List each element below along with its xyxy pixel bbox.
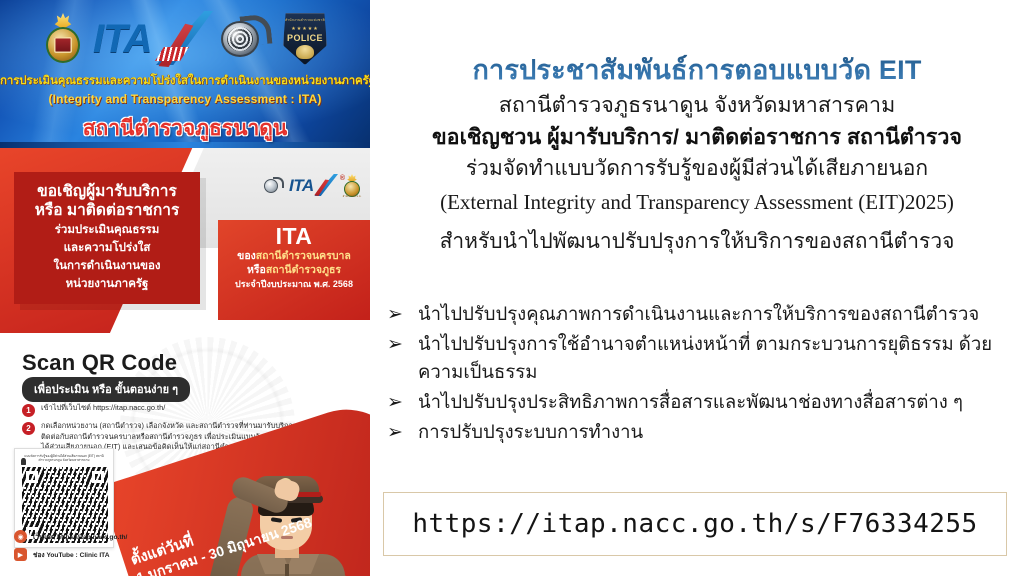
ita-panel-line-1-prefix: ของ bbox=[237, 250, 256, 262]
globe-icon: ◉ bbox=[14, 530, 27, 543]
slide-text-content: การประชาสัมพันธ์การตอบแบบวัด EIT สถานีตำ… bbox=[370, 0, 1024, 576]
mini-magnifier-icon bbox=[264, 177, 284, 195]
eit-english-line: (External Integrity and Transparency Ass… bbox=[370, 190, 1024, 215]
benefits-list: ➢ นำไปปรับปรุงคุณภาพการดำเนินงานและการให… bbox=[384, 300, 1014, 448]
bullet-arrow-icon: ➢ bbox=[384, 300, 406, 328]
qr-card-caption: แบบวัดการรับรู้ของผู้มีส่วนได้ส่วนเสียภา… bbox=[20, 454, 108, 463]
police-badge-icon: สำนักงานตำรวจแห่งชาติ ★★★★★ POLICE bbox=[283, 13, 327, 65]
ita-panel-line-1: ของสถานีตำรวจนครบาล bbox=[218, 249, 370, 263]
slide-canvas: ITA สำนักงานตำรวจแห่งชาติ ★★★★★ POLICE ก… bbox=[0, 0, 1024, 576]
list-item: ➢ นำไปปรับปรุงการใช้อำนาจตำแหน่งหน้าที่ … bbox=[384, 330, 1014, 386]
contact-label: ช่อง YouTube : Clinic ITA bbox=[33, 549, 110, 560]
ita-panel-line-2-prefix: หรือ bbox=[247, 264, 266, 276]
ita-poster-image: ITA สำนักงานตำรวจแห่งชาติ ★★★★★ POLICE ก… bbox=[0, 0, 370, 576]
ita-panel-title: ITA bbox=[218, 224, 370, 249]
invitation-line: ขอเชิญชวน ผู้มารับบริการ/ มาติดต่อราชการ… bbox=[370, 120, 1024, 154]
mini-garuda-seal-icon: สำนักงาน ป.ป.ช. bbox=[342, 174, 362, 198]
magnifier-icon bbox=[219, 15, 273, 63]
banner-english-line: (Integrity and Transparency Assessment :… bbox=[0, 92, 370, 106]
ita-panel-line-3: ประจำปีงบประมาณ พ.ศ. 2568 bbox=[218, 277, 370, 291]
poster-banner: ITA สำนักงานตำรวจแห่งชาติ ★★★★★ POLICE ก… bbox=[0, 0, 370, 148]
step-number: 2 bbox=[22, 422, 35, 435]
list-item-text: นำไปปรับปรุงประสิทธิภาพการสื่อสารและพัฒน… bbox=[418, 388, 963, 416]
ita-panel-line-1-value: สถานีตำรวจนครบาล bbox=[256, 250, 351, 262]
poster-contact-list: ◉ เว็บไซต์ https://itap.nacc.go.th/ ▶ ช่… bbox=[14, 530, 127, 566]
step-number: 1 bbox=[22, 404, 35, 417]
step-text: เข้าไปที่เว็บไซต์ https://itap.nacc.go.t… bbox=[41, 403, 165, 414]
list-item-text: นำไปปรับปรุงการใช้อำนาจตำแหน่งหน้าที่ ตา… bbox=[418, 330, 1014, 386]
survey-url-box[interactable]: https://itap.nacc.go.th/s/F76334255 bbox=[383, 492, 1007, 556]
royal-garuda-seal-icon bbox=[43, 13, 83, 65]
list-item-text: การปรับปรุงระบบการทำงาน bbox=[418, 418, 643, 446]
survey-url-text[interactable]: https://itap.nacc.go.th/s/F76334255 bbox=[412, 509, 977, 539]
headline-line-2: หรือ มาติดต่อราชการ bbox=[22, 201, 192, 220]
purpose-line: สำหรับนำไปพัฒนาปรับปรุงการให้บริการของสถ… bbox=[370, 225, 1024, 258]
station-line: สถานีตำรวจภูธรนาดูน จังหวัดมหาสารคาม bbox=[370, 88, 1024, 122]
contact-row: ▶ ช่อง YouTube : Clinic ITA bbox=[14, 548, 127, 561]
banner-logo-row: ITA สำนักงานตำรวจแห่งชาติ ★★★★★ POLICE bbox=[0, 8, 370, 70]
bullet-arrow-icon: ➢ bbox=[384, 418, 406, 446]
headline-line-5: ในการดำเนินงานของ bbox=[22, 259, 192, 274]
bullet-arrow-icon: ➢ bbox=[384, 388, 406, 416]
participation-line: ร่วมจัดทำแบบวัดการรับรู้ของผู้มีส่วนได้เ… bbox=[370, 152, 1024, 185]
mini-ita-logo-icon: ITA® bbox=[289, 176, 337, 196]
youtube-icon: ▶ bbox=[14, 548, 27, 561]
bullet-arrow-icon: ➢ bbox=[384, 330, 406, 358]
headline-line-1: ขอเชิญผู้มารับบริการ bbox=[22, 182, 192, 201]
poster-body: ขอเชิญผู้มารับบริการ หรือ มาติดต่อราชการ… bbox=[0, 148, 370, 576]
list-item: ➢ การปรับปรุงระบบการทำงาน bbox=[384, 418, 1014, 446]
scan-qr-title: Scan QR Code bbox=[22, 350, 177, 376]
headline-line-4: และความโปร่งใส bbox=[22, 241, 192, 256]
contact-row: ◉ เว็บไซต์ https://itap.nacc.go.th/ bbox=[14, 530, 127, 543]
list-item-text: นำไปปรับปรุงคุณภาพการดำเนินงานและการให้บ… bbox=[418, 300, 979, 328]
headline-line-3: ร่วมประเมินคุณธรรม bbox=[22, 223, 192, 238]
poster-ita-panel: ITA ของสถานีตำรวจนครบาล หรือสถานีตำรวจภู… bbox=[218, 220, 370, 320]
ita-panel-line-2: หรือสถานีตำรวจภูธร bbox=[218, 263, 370, 277]
headline-line-6: หน่วยงานภาครัฐ bbox=[22, 277, 192, 292]
ita-panel-line-2-value: สถานีตำรวจภูธร bbox=[266, 264, 341, 276]
page-title: การประชาสัมพันธ์การตอบแบบวัด EIT bbox=[370, 48, 1024, 91]
poster-mini-logo-row: ITA® สำนักงาน ป.ป.ช. bbox=[264, 174, 362, 198]
scan-step-item: 1 เข้าไปที่เว็บไซต์ https://itap.nacc.go… bbox=[22, 403, 322, 417]
poster-headline-box: ขอเชิญผู้มารับบริการ หรือ มาติดต่อราชการ… bbox=[14, 172, 200, 304]
list-item: ➢ นำไปปรับปรุงประสิทธิภาพการสื่อสารและพั… bbox=[384, 388, 1014, 416]
scan-qr-subtitle: เพื่อประเมิน หรือ ขั้นตอนง่าย ๆ bbox=[22, 377, 190, 402]
ita-logo-icon: ITA bbox=[93, 15, 209, 63]
qr-card-emblem-icon bbox=[21, 458, 26, 465]
contact-label: เว็บไซต์ https://itap.nacc.go.th/ bbox=[33, 531, 127, 542]
list-item: ➢ นำไปปรับปรุงคุณภาพการดำเนินงานและการให… bbox=[384, 300, 1014, 328]
banner-thai-line: การประเมินคุณธรรมและความโปร่งใสในการดำเน… bbox=[0, 72, 370, 90]
banner-station-name: สถานีตำรวจภูธรนาดูน bbox=[0, 112, 370, 145]
